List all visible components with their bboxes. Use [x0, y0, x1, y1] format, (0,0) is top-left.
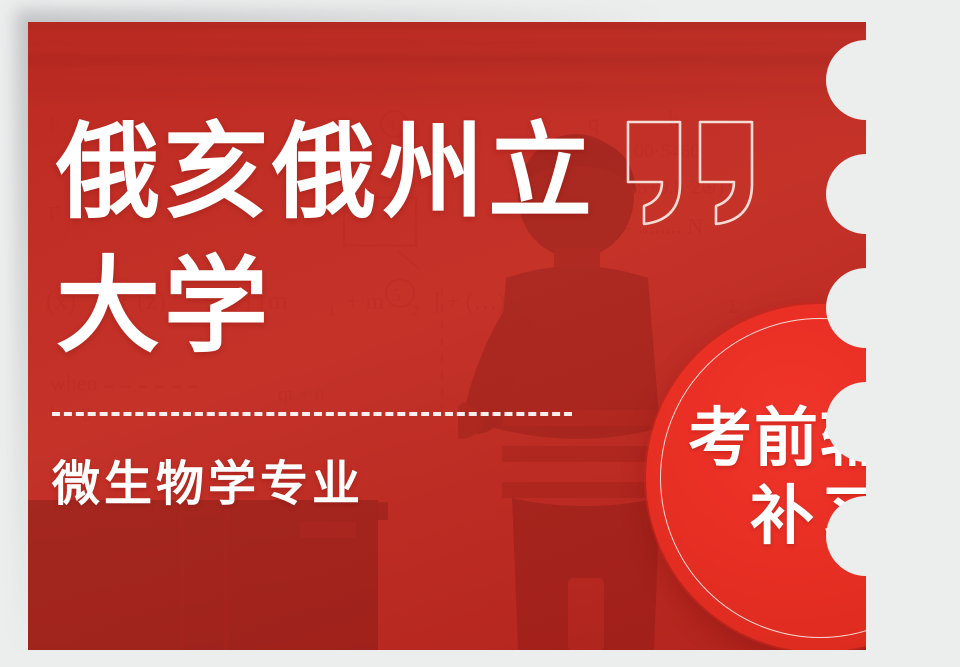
bottom-background-strip	[0, 650, 960, 667]
badge-line-1: 考前辅导	[688, 403, 932, 475]
poster-content: 俄亥俄州立 大学 微生物学专业 考前辅导 补习	[28, 22, 932, 650]
badge-line-2: 补习	[750, 481, 890, 553]
poster-subtitle: 微生物学专业	[52, 455, 364, 515]
poster-canvas: F x Σ F F y (x) 2 + (z) 2 = ∫ [m 1 + m 2	[0, 0, 960, 667]
title-line-2: 大学	[56, 240, 756, 374]
dashed-divider	[52, 412, 572, 416]
poster-title: 俄亥俄州立 大学	[56, 106, 756, 374]
title-line-1: 俄亥俄州立	[56, 106, 756, 240]
badge-inner-ring	[660, 318, 932, 638]
poster-card: F x Σ F F y (x) 2 + (z) 2 = ∫ [m 1 + m 2	[28, 22, 932, 650]
